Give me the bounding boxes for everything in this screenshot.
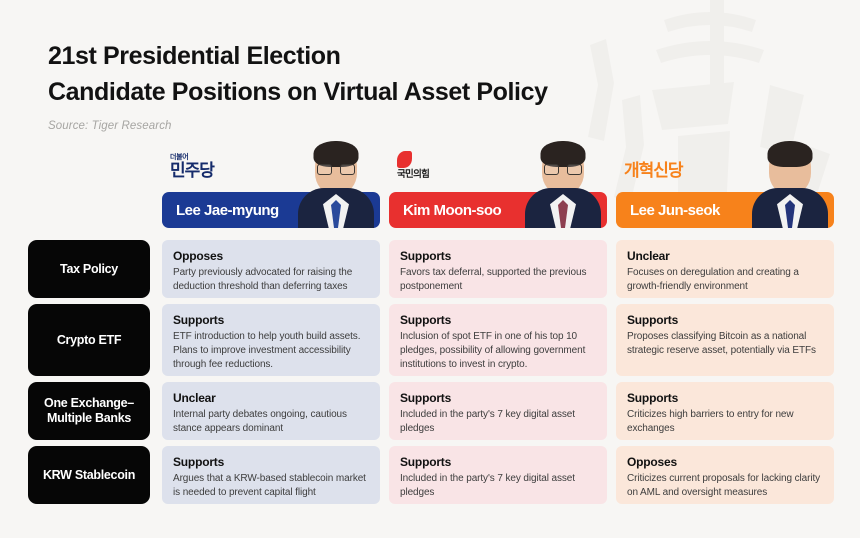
- candidate-card-1[interactable]: 더불어민주당Lee Jae-myung: [162, 140, 380, 236]
- stance-badge: Supports: [173, 313, 369, 327]
- portrait-hair: [768, 141, 813, 167]
- stance-description: Included in the party's 7 key digital as…: [400, 408, 596, 436]
- policy-cell-r2-c1[interactable]: SupportsETF introduction to help youth b…: [162, 304, 380, 376]
- stance-badge: Opposes: [173, 249, 369, 263]
- party-logo-text-3: 개혁신당: [624, 162, 683, 180]
- stance-description: Party previously advocated for raising t…: [173, 266, 369, 294]
- stance-badge: Supports: [400, 391, 596, 405]
- stance-badge: Supports: [627, 391, 823, 405]
- table-row: One Exchange–Multiple BanksUnclearIntern…: [0, 382, 860, 440]
- candidate-portrait-1: [298, 140, 374, 228]
- candidate-name-3: Lee Jun-seok: [616, 202, 720, 219]
- candidate-name-1: Lee Jae-myung: [162, 202, 279, 219]
- stance-badge: Supports: [400, 313, 596, 327]
- party-logo-1: 더불어민주당: [170, 150, 214, 180]
- policy-cell-r4-c3[interactable]: OpposesCriticizes current proposals for …: [616, 446, 834, 504]
- candidate-portrait-3: [752, 140, 828, 228]
- policy-cell-r4-c1[interactable]: SupportsArgues that a KRW-based stableco…: [162, 446, 380, 504]
- header-block: 21st Presidential Election Candidate Pos…: [48, 38, 548, 132]
- row-label-4: KRW Stablecoin: [28, 446, 150, 504]
- policy-cell-r3-c2[interactable]: SupportsIncluded in the party's 7 key di…: [389, 382, 607, 440]
- stance-badge: Supports: [400, 249, 596, 263]
- candidate-header-row: 더불어민주당Lee Jae-myung국민의힘Kim Moon-soo개혁신당L…: [0, 140, 860, 236]
- page-title-line-2: Candidate Positions on Virtual Asset Pol…: [48, 74, 548, 110]
- ppp-flame-icon: [397, 151, 412, 168]
- policy-cell-r4-c2[interactable]: SupportsIncluded in the party's 7 key di…: [389, 446, 607, 504]
- policy-cell-r3-c3[interactable]: SupportsCriticizes high barriers to entr…: [616, 382, 834, 440]
- stance-description: ETF introduction to help youth build ass…: [173, 330, 369, 372]
- stance-description: Included in the party's 7 key digital as…: [400, 472, 596, 500]
- row-label-3: One Exchange–Multiple Banks: [28, 382, 150, 440]
- page-title-line-1: 21st Presidential Election: [48, 38, 548, 74]
- candidate-card-2[interactable]: 국민의힘Kim Moon-soo: [389, 140, 607, 236]
- policy-cell-r1-c2[interactable]: SupportsFavors tax deferral, supported t…: [389, 240, 607, 298]
- portrait-glasses-icon: [543, 164, 583, 175]
- stance-badge: Supports: [627, 313, 823, 327]
- policy-matrix: Tax PolicyOpposesParty previously advoca…: [0, 240, 860, 510]
- stance-badge: Supports: [173, 455, 369, 469]
- stance-description: Criticizes current proposals for lacking…: [627, 472, 823, 500]
- policy-cell-r1-c1[interactable]: OpposesParty previously advocated for ra…: [162, 240, 380, 298]
- stance-badge: Opposes: [627, 455, 823, 469]
- stance-description: Favors tax deferral, supported the previ…: [400, 266, 596, 294]
- source-credit: Source: Tiger Research: [48, 120, 548, 132]
- policy-cell-r2-c3[interactable]: SupportsProposes classifying Bitcoin as …: [616, 304, 834, 376]
- table-row: Crypto ETFSupportsETF introduction to he…: [0, 304, 860, 376]
- stance-badge: Unclear: [627, 249, 823, 263]
- stance-badge: Supports: [400, 455, 596, 469]
- party-logo-2: 국민의힘: [397, 150, 429, 180]
- stance-badge: Unclear: [173, 391, 369, 405]
- policy-cell-r2-c2[interactable]: SupportsInclusion of spot ETF in one of …: [389, 304, 607, 376]
- table-row: KRW StablecoinSupportsArgues that a KRW-…: [0, 446, 860, 504]
- candidate-name-2: Kim Moon-soo: [389, 202, 501, 219]
- stance-description: Internal party debates ongoing, cautious…: [173, 408, 369, 436]
- stance-description: Focuses on deregulation and creating a g…: [627, 266, 823, 294]
- row-label-1: Tax Policy: [28, 240, 150, 298]
- party-logo-3: 개혁신당: [624, 150, 683, 180]
- stance-description: Proposes classifying Bitcoin as a nation…: [627, 330, 823, 358]
- party-logo-text-2: 국민의힘: [397, 170, 429, 180]
- table-row: Tax PolicyOpposesParty previously advoca…: [0, 240, 860, 298]
- stance-description: Inclusion of spot ETF in one of his top …: [400, 330, 596, 372]
- row-label-2: Crypto ETF: [28, 304, 150, 376]
- policy-cell-r1-c3[interactable]: UnclearFocuses on deregulation and creat…: [616, 240, 834, 298]
- candidate-card-3[interactable]: 개혁신당Lee Jun-seok: [616, 140, 834, 236]
- policy-cell-r3-c1[interactable]: UnclearInternal party debates ongoing, c…: [162, 382, 380, 440]
- stance-description: Criticizes high barriers to entry for ne…: [627, 408, 823, 436]
- party-logo-text-1: 민주당: [170, 162, 214, 180]
- infographic-root: 21st Presidential Election Candidate Pos…: [0, 0, 860, 538]
- portrait-glasses-icon: [316, 164, 356, 175]
- stance-description: Argues that a KRW-based stablecoin marke…: [173, 472, 369, 500]
- candidate-portrait-2: [525, 140, 601, 228]
